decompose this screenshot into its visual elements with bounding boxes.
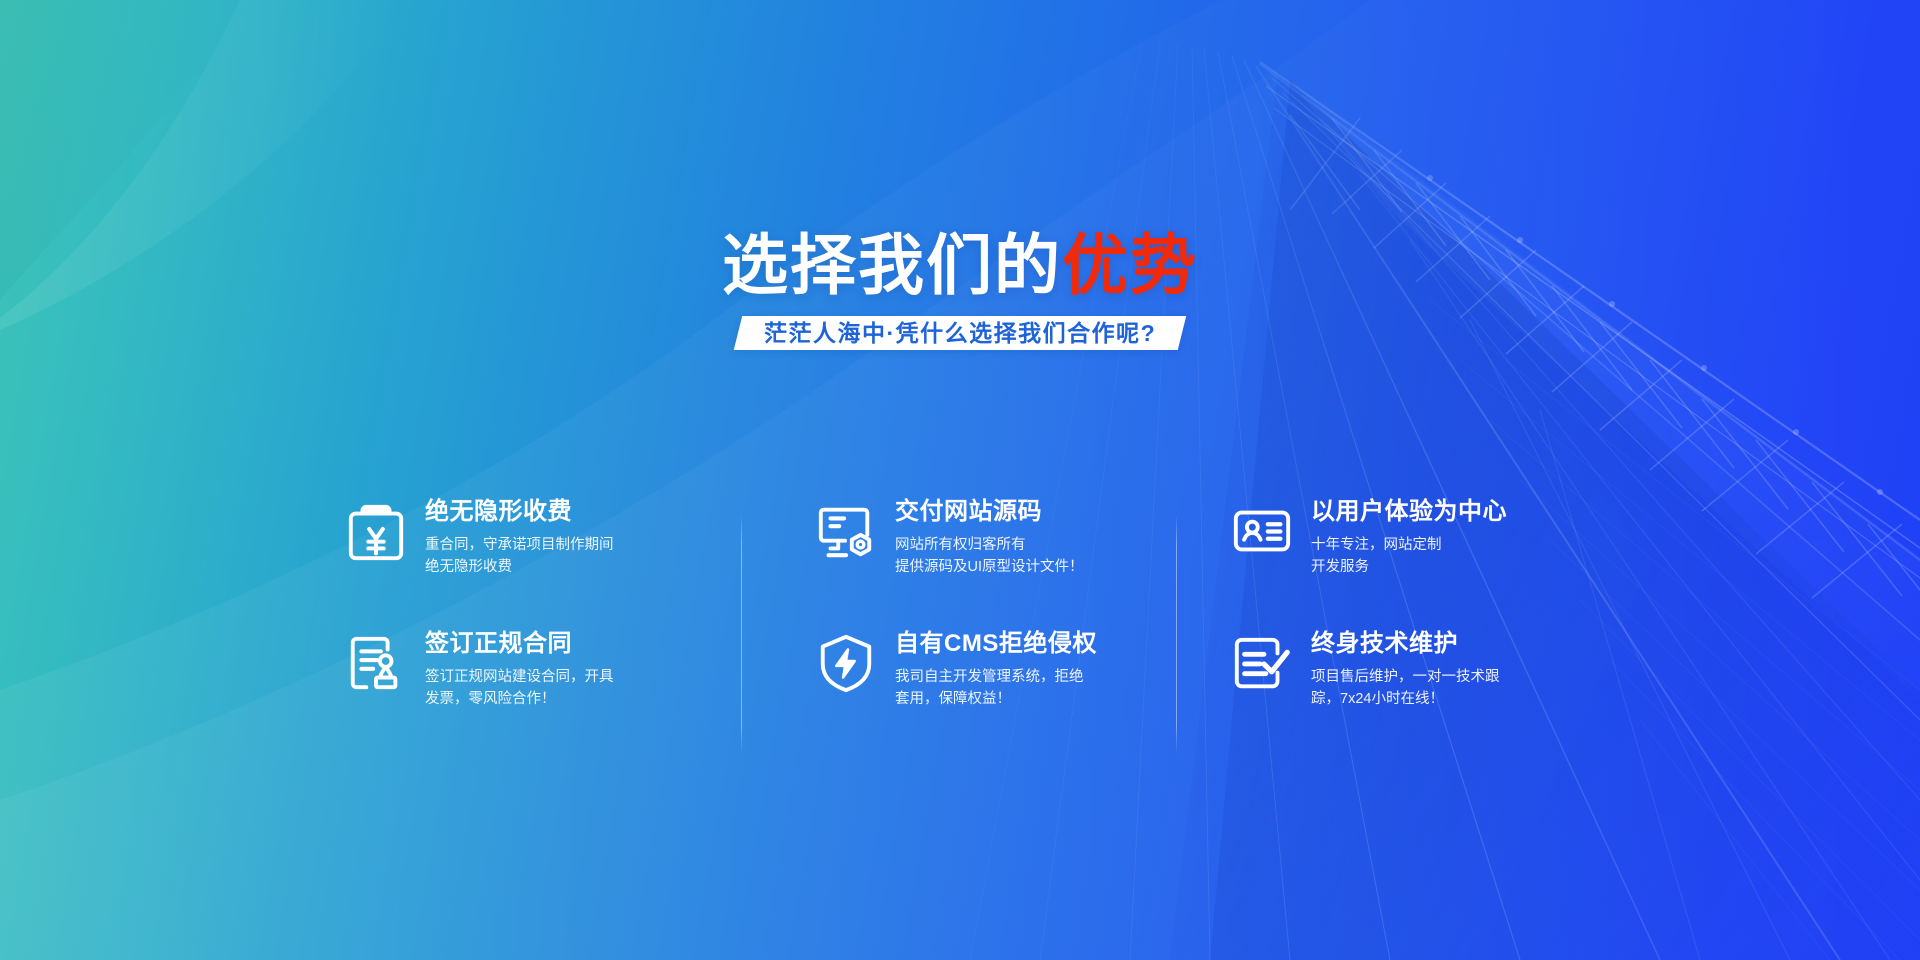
headline-block: 选择我们的优势 茫茫人海中·凭什么选择我们合作呢? (0, 232, 1920, 350)
page-title-accent: 优势 (1062, 228, 1198, 302)
feature-desc-line: 重合同，守承诺项目制作期间 (425, 537, 614, 553)
advantage-banner: 选择我们的优势 茫茫人海中·凭什么选择我们合作呢? (0, 0, 1920, 960)
feature-text-block: 交付网站源码 网站所有权归客所有 提供源码及UI原型设计文件！ (895, 498, 1135, 578)
page-title: 选择我们的优势 (0, 232, 1920, 298)
skyscraper-photo-overlay (960, 0, 1920, 960)
feature-text-block: 签订正规合同 签订正规网站建设合同，开具 发票，零风险合作！ (425, 630, 725, 710)
feature-description: 签订正规网站建设合同，开具 发票，零风险合作！ (425, 666, 640, 710)
subtitle-text: 茫茫人海中·凭什么选择我们合作呢? (764, 316, 1156, 350)
feature-item-formal-contract[interactable]: 签订正规合同 签订正规网站建设合同，开具 发票，零风险合作！ (345, 630, 755, 762)
feature-item-user-experience[interactable]: 以用户体验为中心 十年专注，网站定制 开发服务 (1165, 498, 1575, 630)
feature-desc-line: 十年专注，网站定制 (1311, 537, 1442, 553)
feature-item-source-code[interactable]: 交付网站源码 网站所有权归客所有 提供源码及UI原型设计文件！ (755, 498, 1165, 630)
shield-bolt-icon (815, 632, 877, 694)
feature-desc-line: 签订正规网站建设合同，开具 (425, 669, 614, 685)
feature-desc-line: 踪，7x24小时在线！ (1311, 691, 1444, 707)
feature-item-hidden-fees[interactable]: 绝无隐形收费 重合同，守承诺项目制作期间 绝无隐形收费 (345, 498, 755, 630)
subtitle-wrapper: 茫茫人海中·凭什么选择我们合作呢? (0, 316, 1920, 350)
feature-description: 重合同，守承诺项目制作期间 绝无隐形收费 (425, 534, 640, 578)
checklist-check-icon (1231, 632, 1293, 694)
feature-desc-line: 网站所有权归客所有 (895, 537, 1026, 553)
feature-description: 项目售后维护，一对一技术跟 踪，7x24小时在线！ (1311, 666, 1526, 710)
id-card-icon (1231, 500, 1293, 562)
feature-desc-line: 提供源码及UI原型设计文件！ (895, 559, 1084, 575)
feature-title: 签订正规合同 (425, 631, 725, 657)
feature-text-block: 绝无隐形收费 重合同，守承诺项目制作期间 绝无隐形收费 (425, 498, 725, 578)
feature-text-block: 以用户体验为中心 十年专注，网站定制 开发服务 (1311, 498, 1545, 578)
feature-title: 绝无隐形收费 (425, 499, 725, 525)
feature-desc-line: 绝无隐形收费 (425, 559, 512, 575)
page-title-main: 选择我们的 (722, 228, 1062, 302)
feature-title: 交付网站源码 (895, 499, 1135, 525)
subtitle-banner: 茫茫人海中·凭什么选择我们合作呢? (734, 316, 1187, 350)
feature-title: 以用户体验为中心 (1311, 499, 1545, 525)
feature-grid: 绝无隐形收费 重合同，守承诺项目制作期间 绝无隐形收费 (345, 498, 1575, 762)
document-stamp-icon (345, 632, 407, 694)
feature-description: 我司自主开发管理系统，拒绝 套用，保障权益！ (895, 666, 1110, 710)
feature-item-lifetime-maintenance[interactable]: 终身技术维护 项目售后维护，一对一技术跟 踪，7x24小时在线！ (1165, 630, 1575, 762)
feature-text-block: 自有CMS拒绝侵权 我司自主开发管理系统，拒绝 套用，保障权益！ (895, 630, 1135, 710)
monitor-gear-icon (815, 500, 877, 562)
feature-item-own-cms[interactable]: 自有CMS拒绝侵权 我司自主开发管理系统，拒绝 套用，保障权益！ (755, 630, 1165, 762)
feature-description: 网站所有权归客所有 提供源码及UI原型设计文件！ (895, 534, 1110, 578)
feature-description: 十年专注，网站定制 开发服务 (1311, 534, 1526, 578)
feature-desc-line: 我司自主开发管理系统，拒绝 (895, 669, 1084, 685)
feature-desc-line: 发票，零风险合作！ (425, 691, 556, 707)
feature-text-block: 终身技术维护 项目售后维护，一对一技术跟 踪，7x24小时在线！ (1311, 630, 1545, 710)
feature-desc-line: 套用，保障权益！ (895, 691, 1011, 707)
feature-desc-line: 开发服务 (1311, 559, 1369, 575)
feature-title: 自有CMS拒绝侵权 (895, 631, 1135, 657)
clipboard-yen-icon (345, 500, 407, 562)
feature-desc-line: 项目售后维护，一对一技术跟 (1311, 669, 1500, 685)
background-wave-decoration (0, 0, 1920, 960)
feature-title: 终身技术维护 (1311, 631, 1545, 657)
